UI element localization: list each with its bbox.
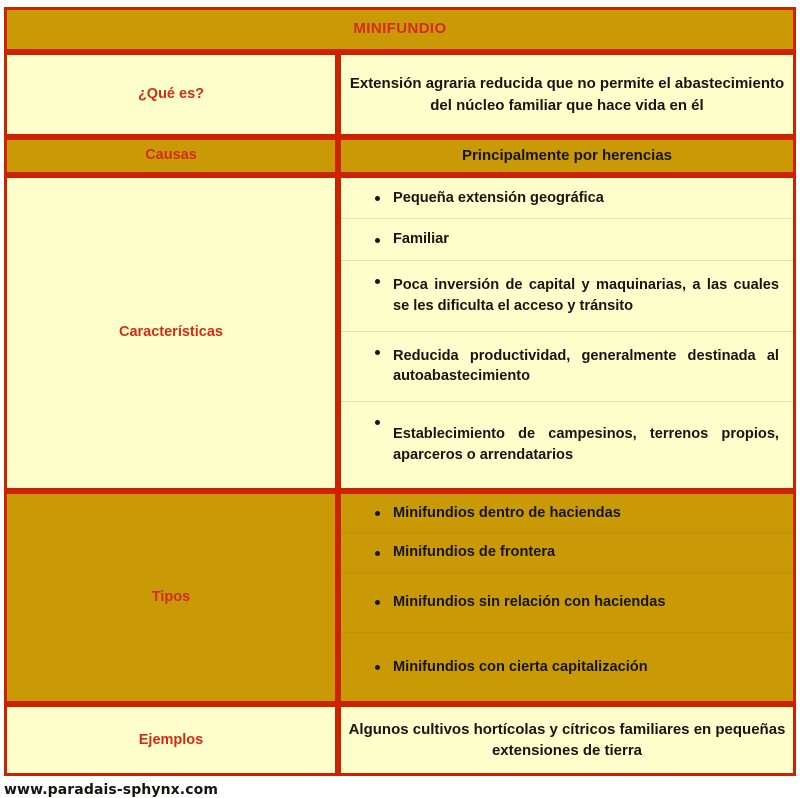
table-row-ejemplos: Ejemplos Algunos cultivos hortícolas y c… xyxy=(4,704,796,776)
source-watermark: www.paradais-sphynx.com xyxy=(4,782,800,798)
row-label-text: Tipos xyxy=(7,589,335,606)
list-item: Pequeña extensión geográfica xyxy=(341,178,793,219)
row-content-caracteristicas: Pequeña extensión geográfica Familiar Po… xyxy=(338,175,796,491)
row-label-caracteristicas: Características xyxy=(4,175,338,491)
list-item-text: Reducida productividad, generalmente des… xyxy=(393,348,779,385)
row-content-text: Algunos cultivos hortícolas y cítricos f… xyxy=(341,719,793,763)
list-item-text: Minifundios dentro de haciendas xyxy=(393,505,621,521)
table-row-tipos: Tipos Minifundios dentro de haciendas Mi… xyxy=(4,491,796,705)
list-item-text: Pequeña extensión geográfica xyxy=(393,190,604,206)
row-label-que-es: ¿Qué es? xyxy=(4,52,338,137)
row-content-ejemplos: Algunos cultivos hortícolas y cítricos f… xyxy=(338,704,796,776)
table-row-caracteristicas: Características Pequeña extensión geográ… xyxy=(4,175,796,491)
minifundio-infographic: MINIFUNDIO ¿Qué es? Extensión agraria re… xyxy=(0,7,800,728)
bullet-dot-icon xyxy=(375,600,380,605)
row-content-que-es: Extensión agraria reducida que no permit… xyxy=(338,52,796,137)
table-row-causas: Causas Principalmente por herencias xyxy=(4,137,796,175)
list-item-text: Familiar xyxy=(393,231,449,247)
bullet-dot-icon xyxy=(375,196,380,201)
row-label-text: ¿Qué es? xyxy=(7,86,335,103)
minifundio-table: MINIFUNDIO ¿Qué es? Extensión agraria re… xyxy=(4,7,796,776)
list-item: Minifundios dentro de haciendas xyxy=(341,494,793,533)
bullet-dot-icon xyxy=(375,350,380,355)
title-cell: MINIFUNDIO xyxy=(4,7,796,52)
row-label-text: Causas xyxy=(7,147,335,164)
list-item: Poca inversión de capital y maquinarias,… xyxy=(341,260,793,330)
row-content-tipos: Minifundios dentro de haciendas Minifund… xyxy=(338,491,796,705)
row-label-text: Características xyxy=(7,324,335,341)
bullet-dot-icon xyxy=(375,420,380,425)
row-label-tipos: Tipos xyxy=(4,491,338,705)
bullet-list: Minifundios dentro de haciendas Minifund… xyxy=(341,494,793,702)
table-row-title: MINIFUNDIO xyxy=(4,7,796,52)
list-item: Establecimiento de campesinos, terrenos … xyxy=(341,401,793,487)
table-row-que-es: ¿Qué es? Extensión agraria reducida que … xyxy=(4,52,796,137)
list-item: Familiar xyxy=(341,218,793,260)
row-label-ejemplos: Ejemplos xyxy=(4,704,338,776)
list-item: Minifundios sin relación con haciendas xyxy=(341,572,793,632)
list-item-text: Minifundios sin relación con haciendas xyxy=(393,594,665,610)
list-item: Minifundios con cierta capitalización xyxy=(341,632,793,702)
bullet-dot-icon xyxy=(375,665,380,670)
list-item: Minifundios de frontera xyxy=(341,532,793,572)
row-content-causas: Principalmente por herencias xyxy=(338,137,796,175)
list-item-text: Poca inversión de capital y maquinarias,… xyxy=(393,277,779,314)
bullet-dot-icon xyxy=(375,511,380,516)
list-item: Reducida productividad, generalmente des… xyxy=(341,331,793,401)
bullet-list: Pequeña extensión geográfica Familiar Po… xyxy=(341,178,793,488)
bullet-dot-icon xyxy=(375,279,380,284)
list-item-text: Establecimiento de campesinos, terrenos … xyxy=(393,426,779,463)
list-item-text: Minifundios de frontera xyxy=(393,544,555,560)
page-title: MINIFUNDIO xyxy=(7,21,793,38)
list-item-text: Minifundios con cierta capitalización xyxy=(393,659,648,675)
bullet-dot-icon xyxy=(375,551,380,556)
row-label-causas: Causas xyxy=(4,137,338,175)
bullet-dot-icon xyxy=(375,238,380,243)
row-label-text: Ejemplos xyxy=(7,732,335,749)
row-content-text: Principalmente por herencias xyxy=(353,145,781,167)
row-content-text: Extensión agraria reducida que no permit… xyxy=(341,73,793,117)
